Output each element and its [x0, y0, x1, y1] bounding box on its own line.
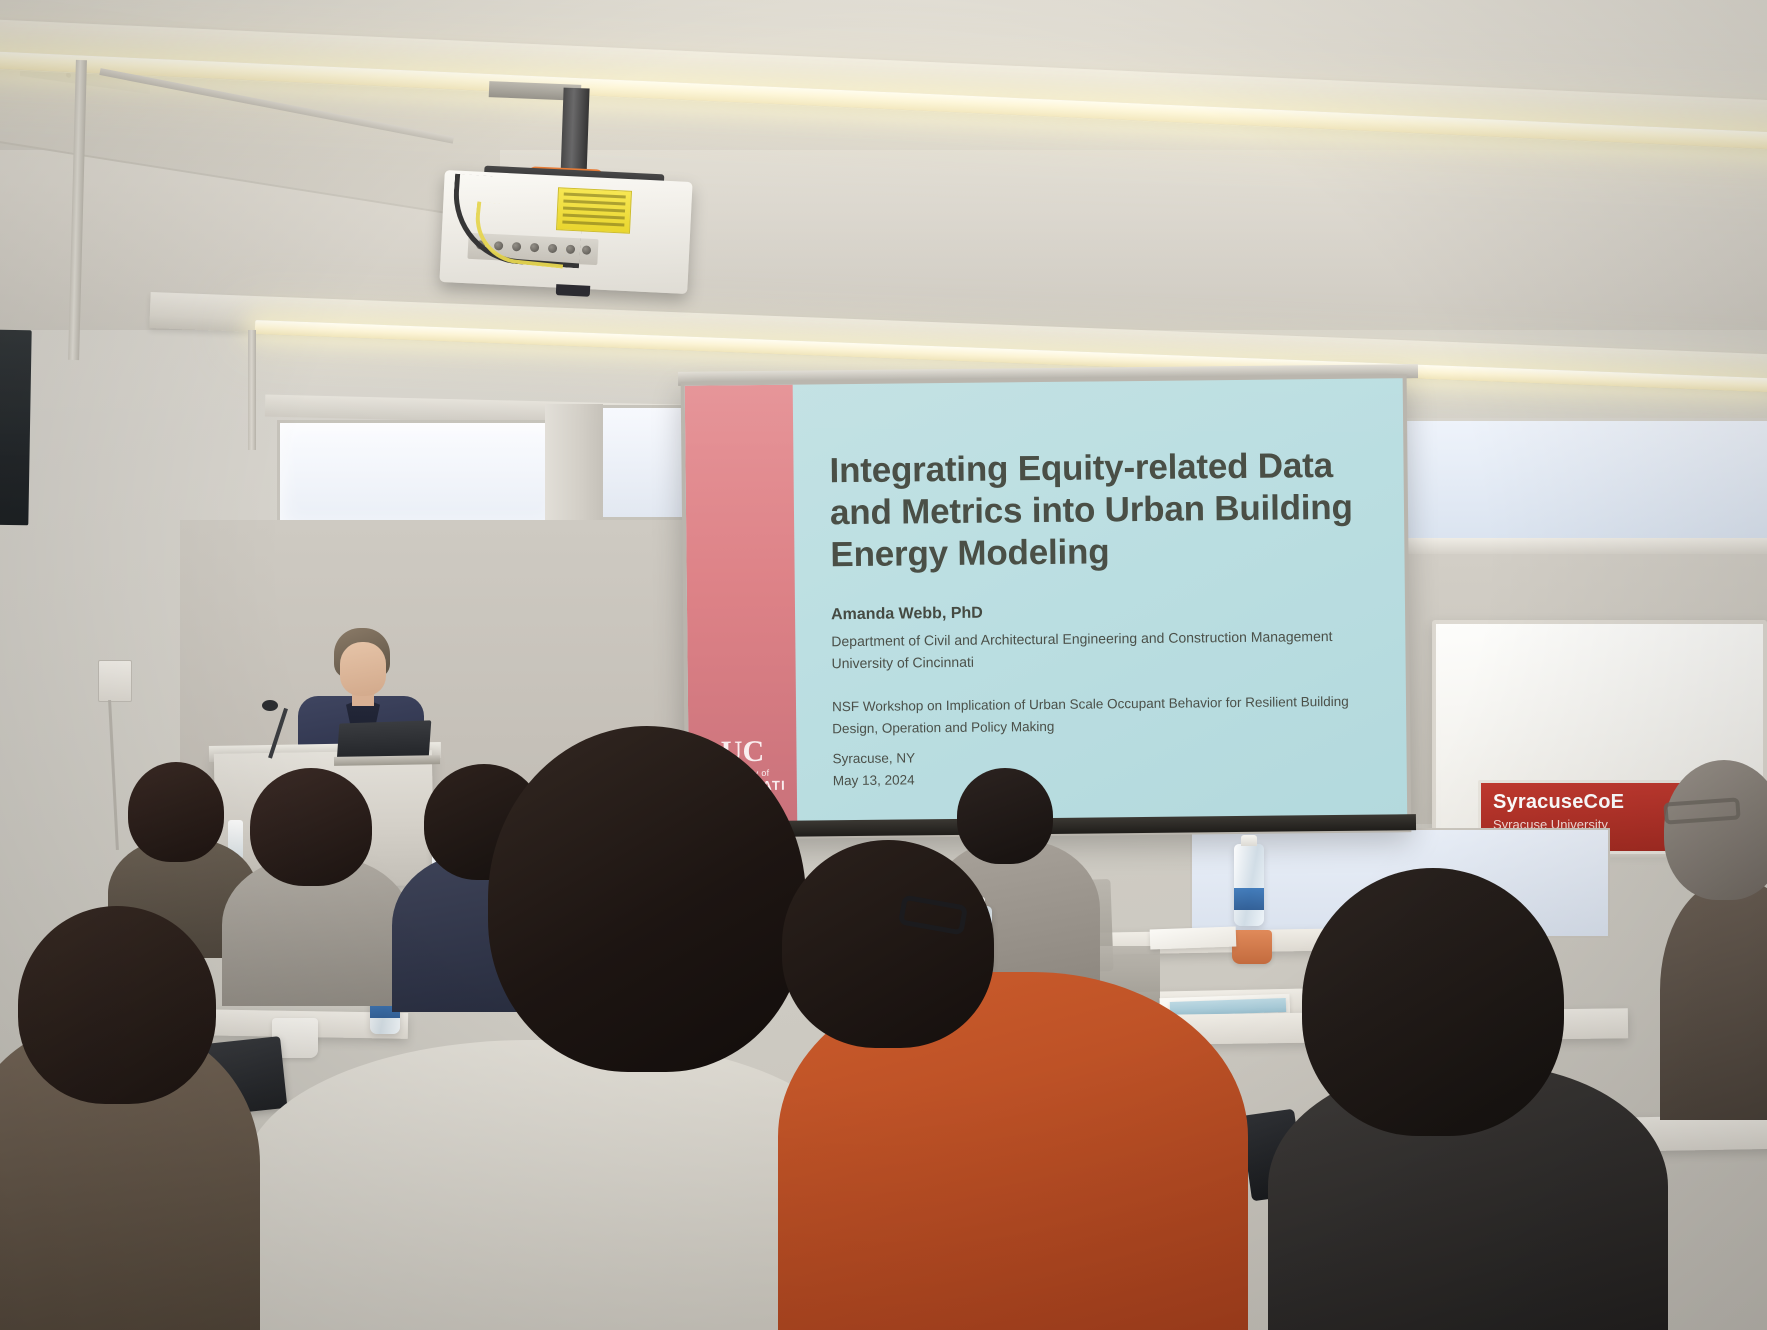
window-right-sill	[1399, 538, 1767, 554]
slide-event-line-2: Design, Operation and Policy Making	[832, 713, 1378, 741]
slide-content: Integrating Equity-related Data and Metr…	[793, 378, 1408, 834]
wall-thermostat[interactable]	[98, 660, 132, 702]
water-bottle	[1234, 844, 1264, 926]
vertical-pipe-secondary	[248, 330, 256, 450]
presentation-slide: UC University of CINCINNATI Integrating …	[685, 378, 1408, 835]
desk-cup	[1232, 930, 1272, 964]
projector-mount-pole	[560, 88, 589, 181]
slide-title: Integrating Equity-related Data and Metr…	[829, 445, 1376, 577]
presenter-face	[340, 642, 386, 696]
microphone-icon	[262, 700, 278, 711]
wall-mounted-dark-panel	[0, 330, 32, 526]
window-right	[1399, 418, 1767, 538]
projector-foot	[556, 284, 590, 297]
attendee-center-body	[244, 1040, 864, 1330]
attendee-left-head	[128, 762, 224, 862]
window-left	[277, 420, 562, 530]
attendee-gray-sweater-head	[250, 768, 372, 886]
attendee-right-head	[1302, 868, 1564, 1136]
attendee-center-head	[488, 726, 806, 1072]
conference-room-photo: SyracuseCoE Syracuse University UC Unive…	[0, 0, 1767, 1330]
slide-author: Amanda Webb, PhD	[831, 601, 1377, 625]
attendee-front-left-head	[18, 906, 216, 1104]
attendee-elder-head	[1664, 760, 1767, 900]
attendee-gray-suit-head	[957, 768, 1053, 864]
attendee-orange-head	[782, 840, 994, 1048]
desk-paper	[1150, 927, 1237, 950]
presenter-laptop-base	[334, 755, 440, 766]
projection-screen: UC University of CINCINNATI Integrating …	[681, 374, 1412, 840]
